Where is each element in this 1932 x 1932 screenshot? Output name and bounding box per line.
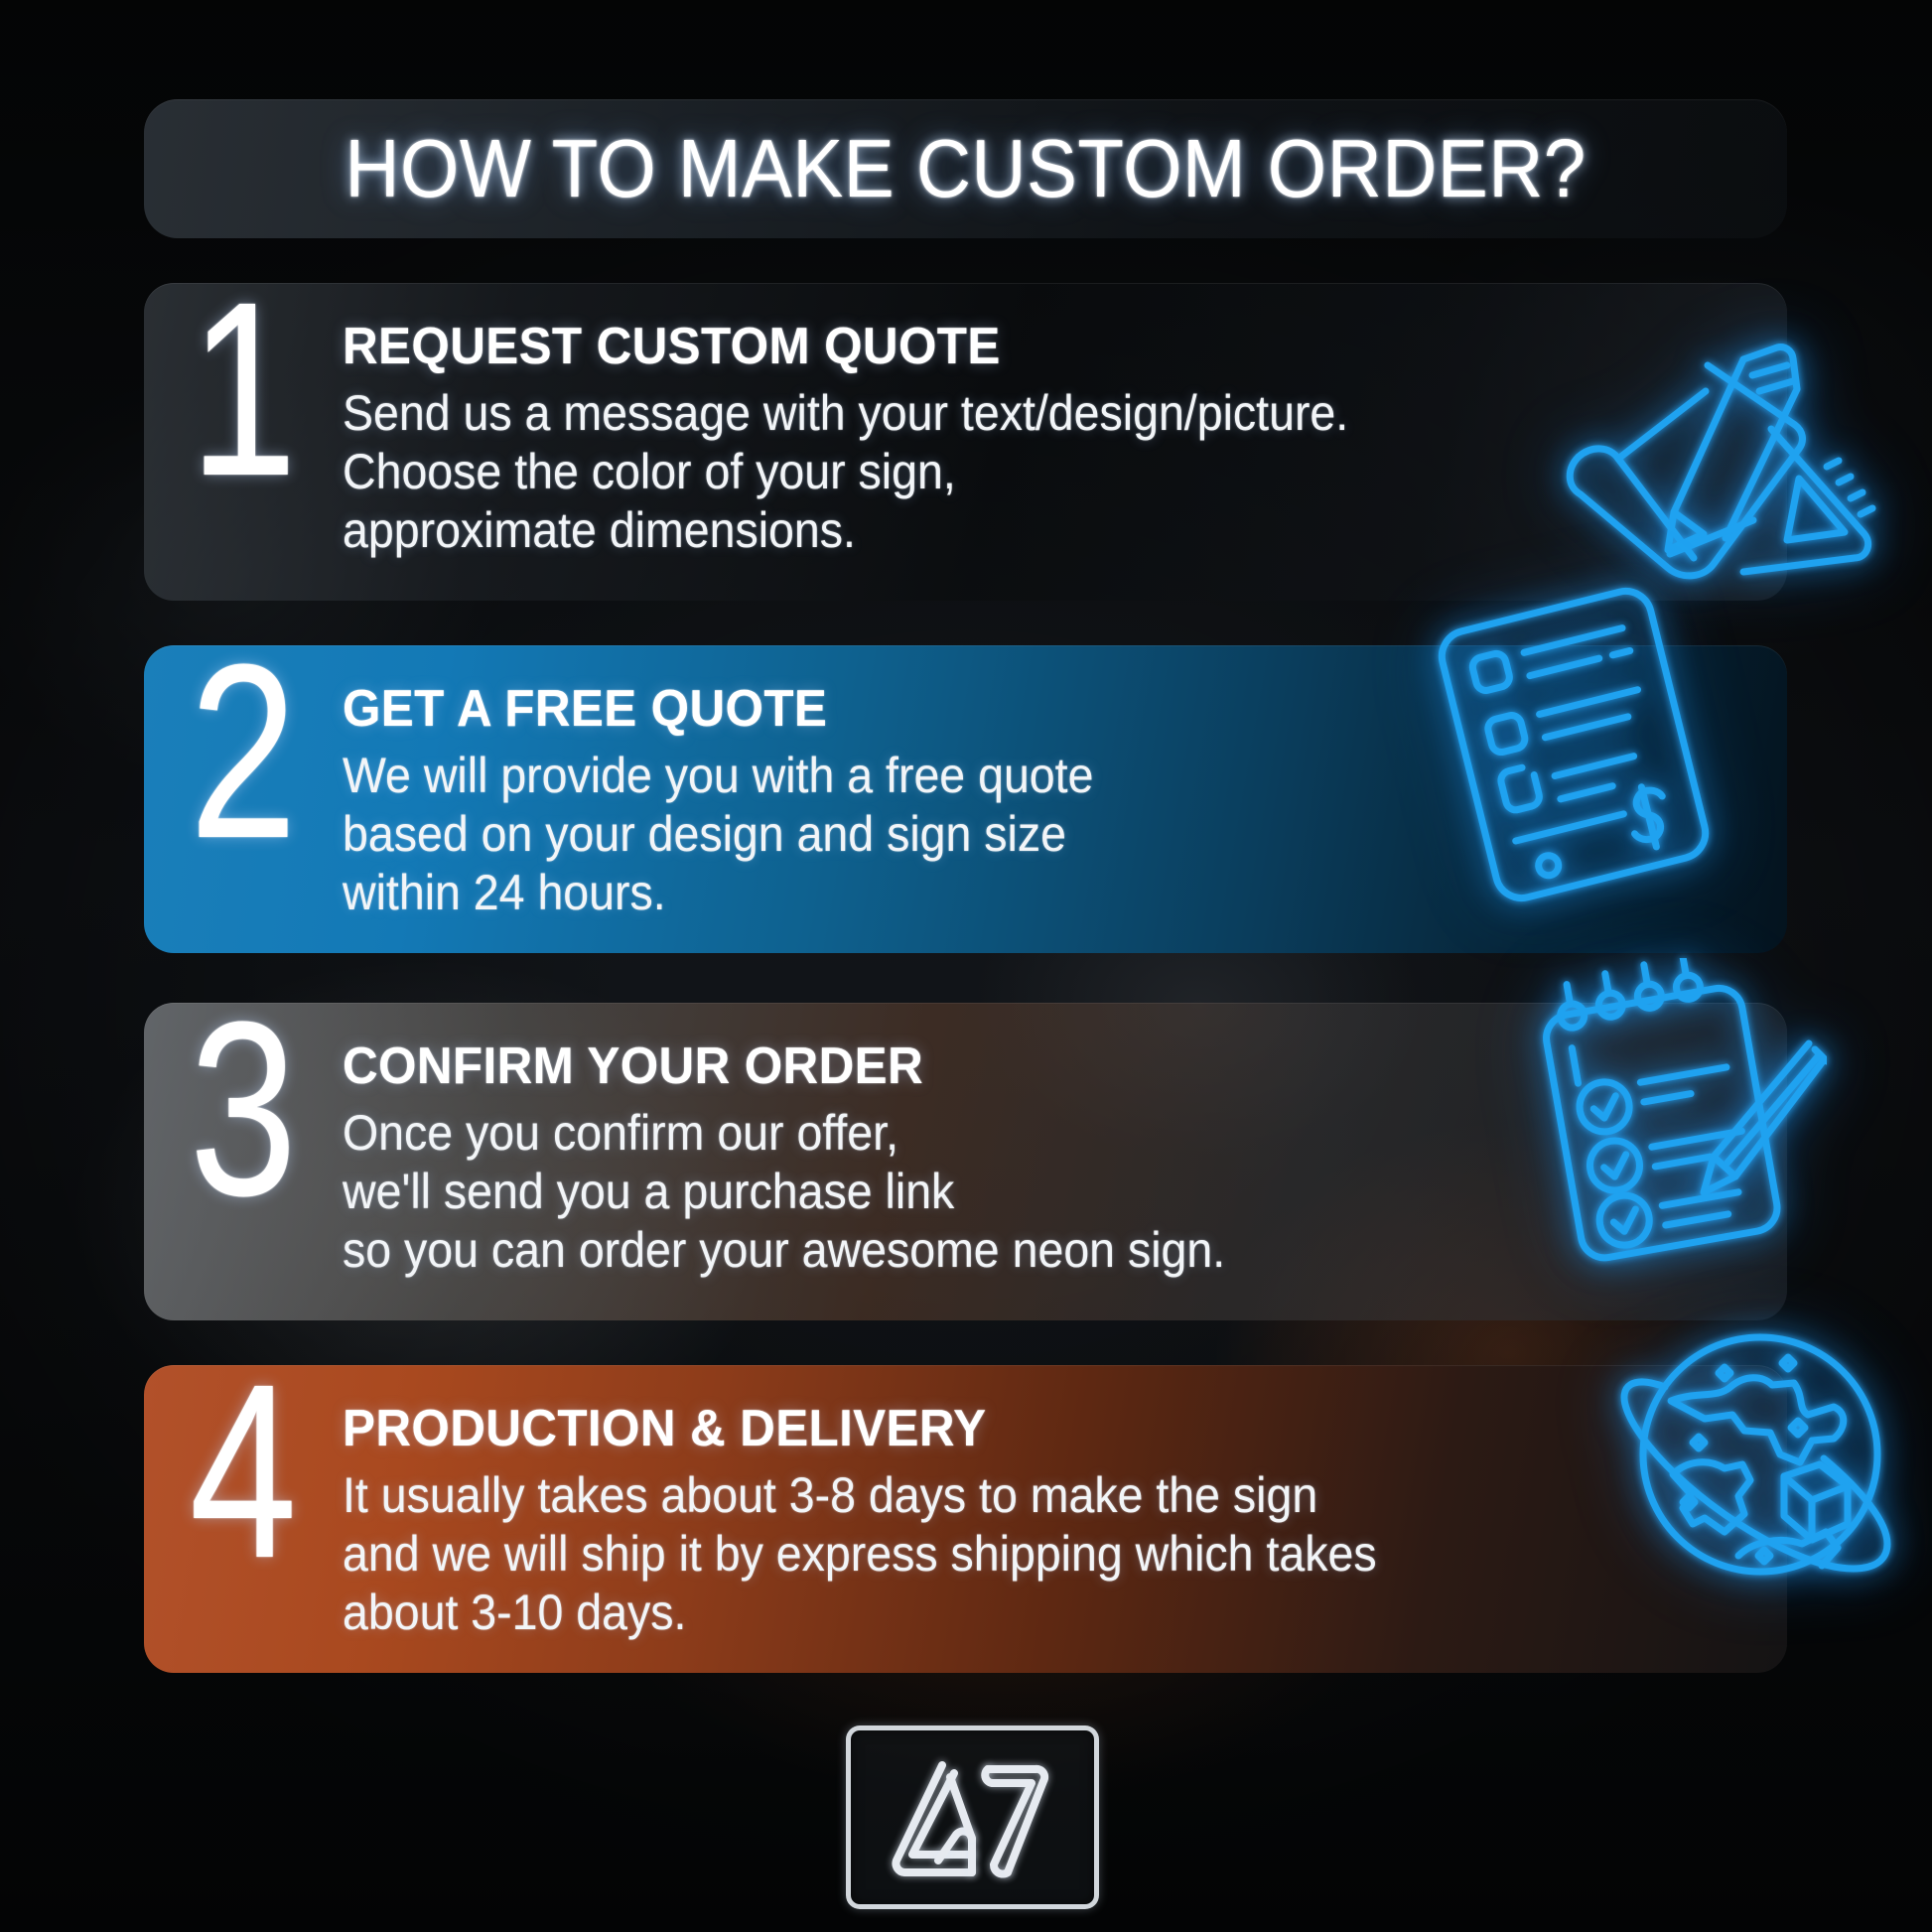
step-body-2: GET A FREE QUOTE We will provide you wit… [343,645,1179,922]
ln-monogram-logo [846,1725,1099,1909]
step-title-2: GET A FREE QUOTE [343,679,1110,739]
step-description-2-line-3: within 24 hours. [343,864,1093,921]
step-description-1: Send us a message with your text/design/… [343,384,1348,559]
step-body-3: CONFIRM YOUR ORDER Once you confirm our … [343,1003,1321,1280]
step-card-3: 3 CONFIRM YOUR ORDER Once you confirm ou… [144,1003,1787,1320]
step-card-4: 4 PRODUCTION & DELIVERY It usually takes… [144,1365,1787,1673]
step-description-2: We will provide you with a free quote ba… [343,747,1093,921]
step-number-3: 3 [166,985,321,1233]
page-title: HOW TO MAKE CUSTOM ORDER? [345,121,1586,216]
infographic-page: HOW TO MAKE CUSTOM ORDER? 1 REQUEST CUST… [0,0,1932,1932]
step-body-4: PRODUCTION & DELIVERY It usually takes a… [343,1365,1484,1642]
step-number-2: 2 [166,627,321,876]
step-number-1: 1 [166,265,321,513]
step-description-4: It usually takes about 3-8 days to make … [343,1466,1377,1641]
step-title-4: PRODUCTION & DELIVERY [343,1399,1399,1458]
step-number-4: 4 [166,1347,321,1595]
step-description-3: Once you confirm our offer, we'll send y… [343,1104,1225,1279]
step-description-2-line-1: We will provide you with a free quote [343,747,1093,804]
step-card-1: 1 REQUEST CUSTOM QUOTE Send us a message… [144,283,1787,601]
step-description-1-line-1: Send us a message with your text/design/… [343,384,1348,442]
step-card-2: 2 GET A FREE QUOTE We will provide you w… [144,645,1787,953]
step-description-4-line-1: It usually takes about 3-8 days to make … [343,1466,1377,1524]
step-description-3-line-1: Once you confirm our offer, [343,1104,1225,1162]
step-description-4-line-3: about 3-10 days. [343,1584,1377,1641]
logo-mark-icon [869,1743,1077,1892]
step-body-1: REQUEST CUSTOM QUOTE Send us a message w… [343,283,1453,560]
step-description-3-line-3: so you can order your awesome neon sign. [343,1221,1225,1279]
step-description-2-line-2: based on your design and sign size [343,805,1093,863]
step-description-4-line-2: and we will ship it by express shipping … [343,1525,1377,1583]
step-description-1-line-2: Choose the color of your sign, [343,443,1348,500]
step-description-1-line-3: approximate dimensions. [343,501,1348,559]
step-description-3-line-2: we'll send you a purchase link [343,1163,1225,1220]
page-title-card: HOW TO MAKE CUSTOM ORDER? [144,99,1787,238]
step-title-3: CONFIRM YOUR ORDER [343,1036,1244,1096]
step-title-1: REQUEST CUSTOM QUOTE [343,317,1370,376]
